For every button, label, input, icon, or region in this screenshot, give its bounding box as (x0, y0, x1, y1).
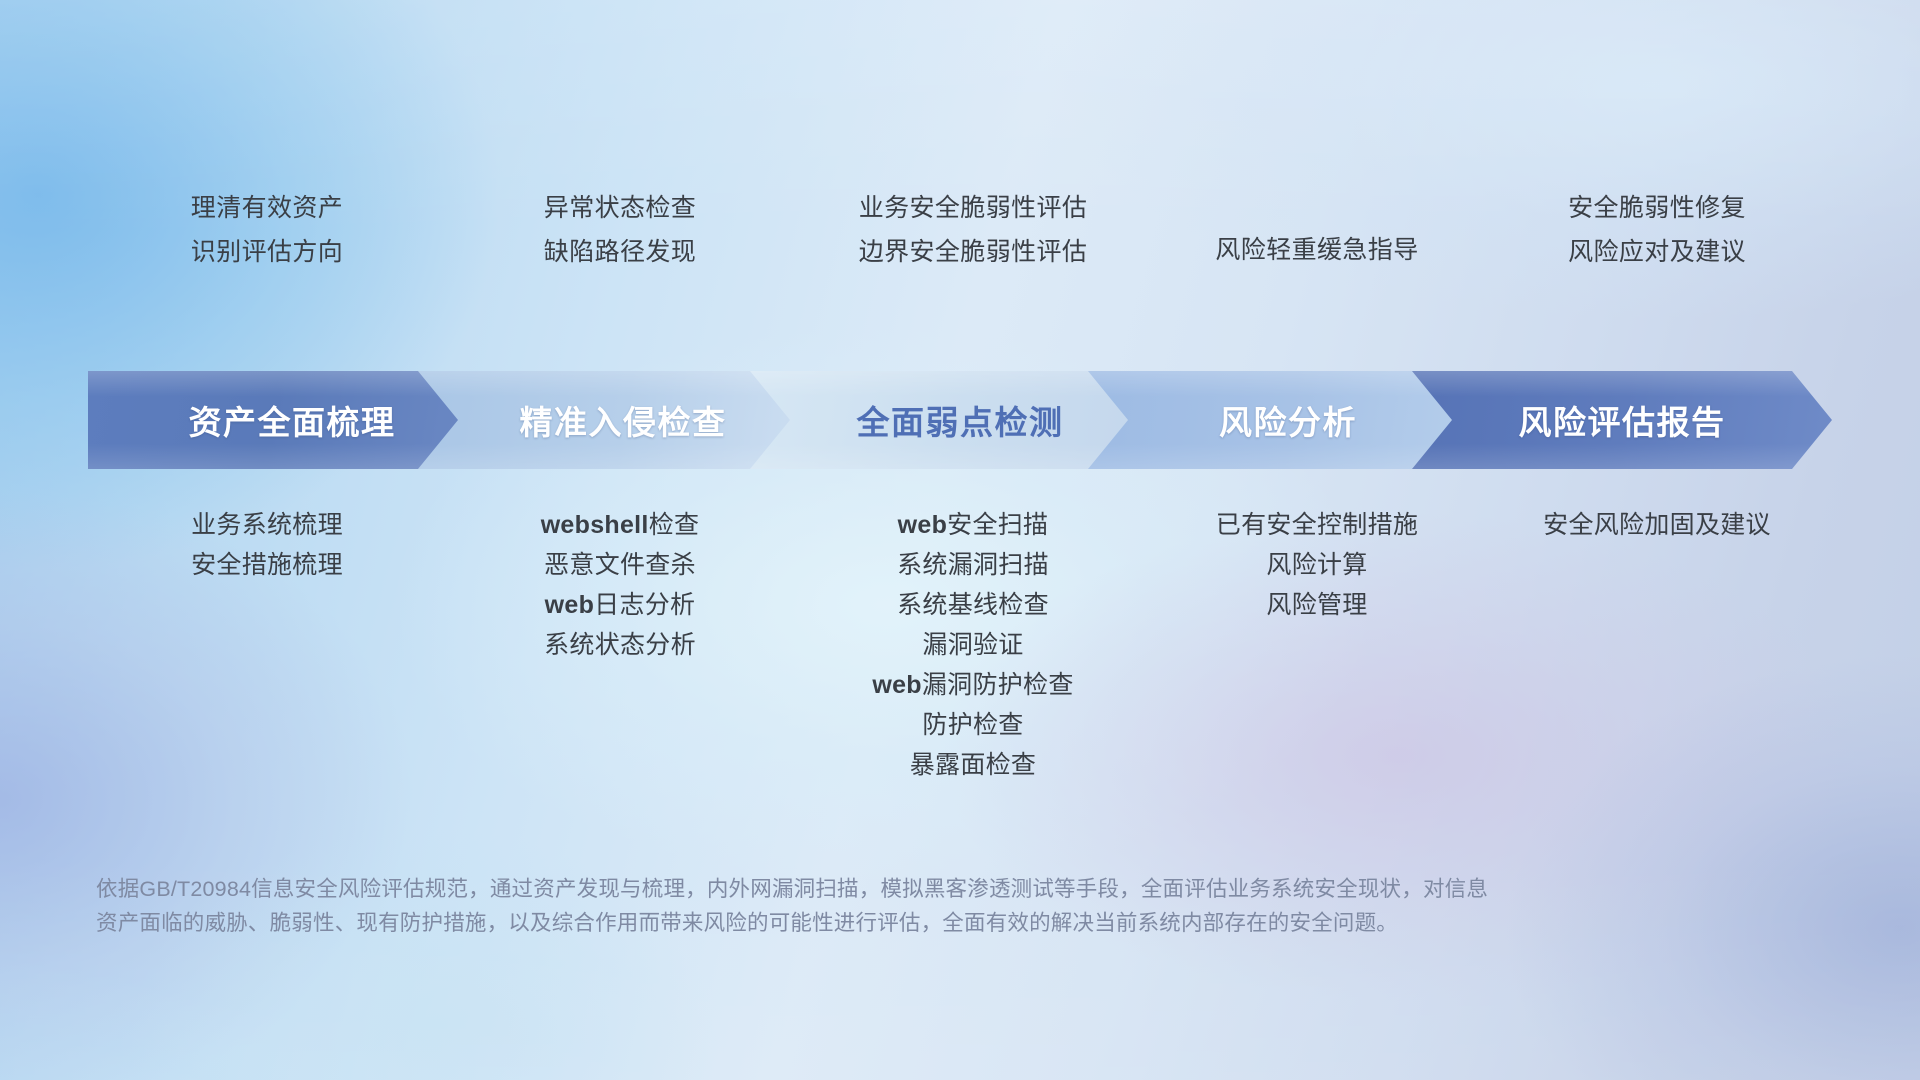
slide-canvas: 理清有效资产识别评估方向 异常状态检查缺陷路径发现 业务安全脆弱性评估边界安全脆… (0, 0, 1920, 1080)
bottom-caption-cjk: 漏洞防护检查 (922, 671, 1074, 699)
top-caption-item: 异常状态检查 (544, 186, 696, 230)
bottom-caption-item: webshell检查 (541, 505, 700, 545)
bottom-caption-cjk: 业务系统梳理 (191, 511, 343, 539)
bottom-caption-item: web漏洞防护检查 (872, 665, 1073, 705)
bottom-caption-cjk: 暴露面检查 (910, 751, 1037, 779)
bottom-caption-row: 业务系统梳理安全措施梳理 webshell检查恶意文件查杀web日志分析系统状态… (88, 505, 1832, 785)
bottom-caption-latin: web (872, 671, 922, 699)
top-caption-item: 边界安全脆弱性评估 (859, 230, 1088, 274)
bottom-caption-cjk: 安全措施梳理 (191, 551, 343, 579)
bottom-caption-item: 安全风险加固及建议 (1543, 505, 1771, 545)
bottom-caption-cjk: 系统状态分析 (544, 631, 696, 659)
bottom-caption-latin: webshell (541, 511, 649, 539)
bottom-caption-cjk: 漏洞验证 (922, 631, 1023, 659)
footer-line-2: 资产面临的威胁、脆弱性、现有防护措施，以及综合作用而带来风险的可能性进行评估，全… (96, 906, 1656, 940)
bottom-captions-risk-report: 安全风险加固及建议 (1482, 505, 1832, 785)
bottom-caption-latin: web (545, 591, 595, 619)
diagram-content: 理清有效资产识别评估方向 异常状态检查缺陷路径发现 业务安全脆弱性评估边界安全脆… (0, 0, 1920, 1080)
process-chevron-band: 资产全面梳理 精准入侵检查 全面弱点检测 风险分析 风险评估报告 (88, 371, 1832, 469)
stage-label-risk-analysis: 风险分析 (1219, 396, 1357, 444)
top-captions-risk-report: 安全脆弱性修复风险应对及建议 (1482, 186, 1832, 274)
top-captions-intrusion-check: 异常状态检查缺陷路径发现 (446, 186, 794, 274)
bottom-caption-item: 恶意文件查杀 (544, 545, 696, 585)
top-captions-weakness-detection: 业务安全脆弱性评估边界安全脆弱性评估 (794, 186, 1152, 274)
footer-description: 依据GB/T20984信息安全风险评估规范，通过资产发现与梳理，内外网漏洞扫描，… (96, 872, 1656, 940)
bottom-caption-cjk: 系统漏洞扫描 (897, 551, 1049, 579)
bottom-caption-cjk: 风险计算 (1266, 551, 1367, 579)
bottom-caption-item: 防护检查 (922, 705, 1023, 745)
bottom-captions-weakness-detection: web安全扫描系统漏洞扫描系统基线检查漏洞验证web漏洞防护检查防护检查暴露面检… (794, 505, 1152, 785)
bottom-caption-cjk: 防护检查 (922, 711, 1023, 739)
top-captions-asset-inventory: 理清有效资产识别评估方向 (88, 186, 446, 274)
bottom-caption-item: 系统状态分析 (544, 625, 696, 665)
stage-label-asset-inventory: 资产全面梳理 (189, 396, 396, 444)
footer-line-1: 依据GB/T20984信息安全风险评估规范，通过资产发现与梳理，内外网漏洞扫描，… (96, 872, 1656, 906)
bottom-caption-cjk: 日志分析 (594, 591, 695, 619)
bottom-caption-cjk: 系统基线检查 (897, 591, 1049, 619)
bottom-caption-cjk: 风险管理 (1266, 591, 1367, 619)
top-caption-item: 业务安全脆弱性评估 (859, 186, 1088, 230)
top-caption-item: 风险应对及建议 (1568, 230, 1746, 274)
stage-label-weakness-detection: 全面弱点检测 (857, 396, 1064, 444)
bottom-caption-item: 系统基线检查 (897, 585, 1049, 625)
stage-label-intrusion-check: 精准入侵检查 (520, 396, 727, 444)
top-caption-item: 理清有效资产 (191, 186, 343, 230)
bottom-caption-cjk: 安全扫描 (947, 511, 1048, 539)
bottom-caption-item: 系统漏洞扫描 (897, 545, 1049, 585)
top-caption-item: 安全脆弱性修复 (1568, 186, 1746, 230)
bottom-caption-item: 业务系统梳理 (191, 505, 343, 545)
stage-chevron-risk-report[interactable]: 风险评估报告 (1412, 371, 1832, 469)
top-caption-item: 识别评估方向 (191, 230, 343, 274)
bottom-caption-item: web日志分析 (545, 585, 696, 625)
bottom-caption-item: web安全扫描 (898, 505, 1049, 545)
top-caption-row: 理清有效资产识别评估方向 异常状态检查缺陷路径发现 业务安全脆弱性评估边界安全脆… (88, 186, 1832, 274)
bottom-caption-latin: web (898, 511, 948, 539)
bottom-caption-cjk: 检查 (649, 511, 700, 539)
bottom-caption-cjk: 安全风险加固及建议 (1543, 511, 1771, 539)
bottom-caption-cjk: 恶意文件查杀 (544, 551, 696, 579)
bottom-caption-item: 暴露面检查 (910, 745, 1037, 785)
bottom-captions-asset-inventory: 业务系统梳理安全措施梳理 (88, 505, 446, 785)
top-captions-risk-analysis: 风险轻重缓急指导 (1152, 186, 1482, 274)
bottom-caption-item: 风险计算 (1266, 545, 1367, 585)
bottom-caption-item: 漏洞验证 (922, 625, 1023, 665)
bottom-caption-item: 已有安全控制措施 (1216, 505, 1418, 545)
top-caption-item: 风险轻重缓急指导 (1215, 228, 1418, 272)
bottom-captions-risk-analysis: 已有安全控制措施风险计算风险管理 (1152, 505, 1482, 785)
top-caption-item: 缺陷路径发现 (544, 230, 696, 274)
bottom-caption-cjk: 已有安全控制措施 (1216, 511, 1418, 539)
stage-label-risk-report: 风险评估报告 (1519, 396, 1726, 444)
bottom-caption-item: 安全措施梳理 (191, 545, 343, 585)
bottom-caption-item: 风险管理 (1266, 585, 1367, 625)
bottom-captions-intrusion-check: webshell检查恶意文件查杀web日志分析系统状态分析 (446, 505, 794, 785)
